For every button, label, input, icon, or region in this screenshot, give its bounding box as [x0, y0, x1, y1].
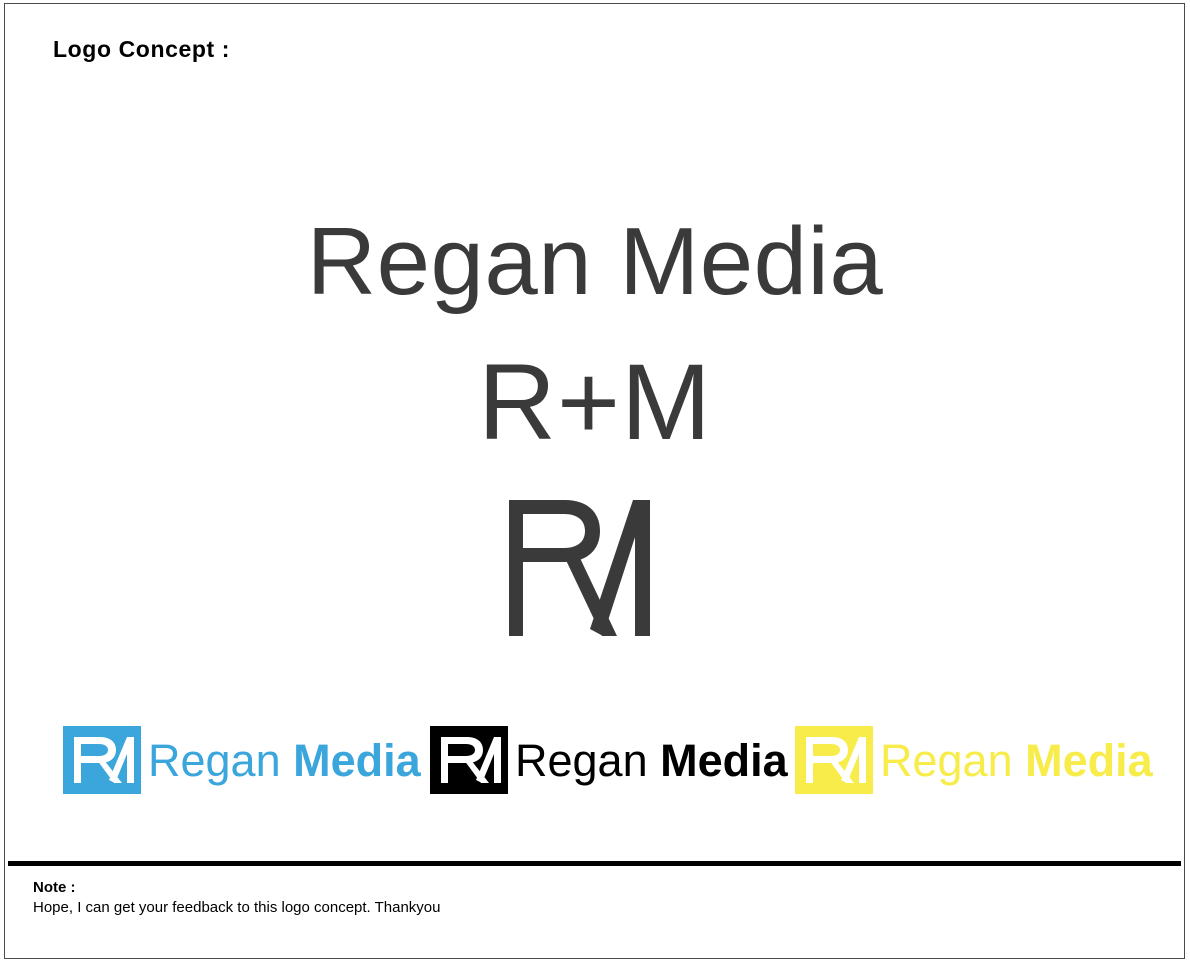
logo-concept-page: Logo Concept : Regan Media R+M	[0, 0, 1190, 963]
footer-note: Note : Hope, I can get your feedback to …	[33, 879, 933, 917]
lockup-yellow-name-light: Regan	[880, 735, 1013, 786]
lockup-yellow: Regan Media	[795, 726, 1153, 794]
lockup-blue-text: Regan Media	[148, 738, 421, 783]
page-title: Logo Concept :	[53, 36, 230, 63]
monogram-formula: R+M	[0, 348, 1190, 456]
lockup-black-text: Regan Media	[515, 738, 788, 783]
lockup-yellow-name-bold: Media	[1025, 735, 1153, 786]
lockup-blue: Regan Media	[63, 726, 421, 794]
rm-badge-yellow-icon	[795, 726, 873, 794]
lockup-black-name-bold: Media	[660, 735, 788, 786]
primary-wordmark: Regan Media	[0, 214, 1190, 310]
rm-monogram-icon	[507, 498, 683, 638]
rm-badge-black-icon	[430, 726, 508, 794]
footer-note-body: Hope, I can get your feedback to this lo…	[33, 898, 933, 918]
monogram-large-container	[0, 498, 1190, 638]
lockup-black-name-light: Regan	[515, 735, 648, 786]
footer-note-label: Note :	[33, 879, 933, 898]
lockup-black: Regan Media	[430, 726, 788, 794]
lockup-yellow-text: Regan Media	[880, 738, 1153, 783]
lockup-blue-name-bold: Media	[293, 735, 421, 786]
lockup-blue-name-light: Regan	[148, 735, 281, 786]
lockup-row: Regan Media Regan Media	[0, 726, 1190, 826]
rm-badge-blue-icon	[63, 726, 141, 794]
concept-stack: Regan Media R+M	[0, 214, 1190, 638]
footer-divider	[8, 861, 1181, 866]
